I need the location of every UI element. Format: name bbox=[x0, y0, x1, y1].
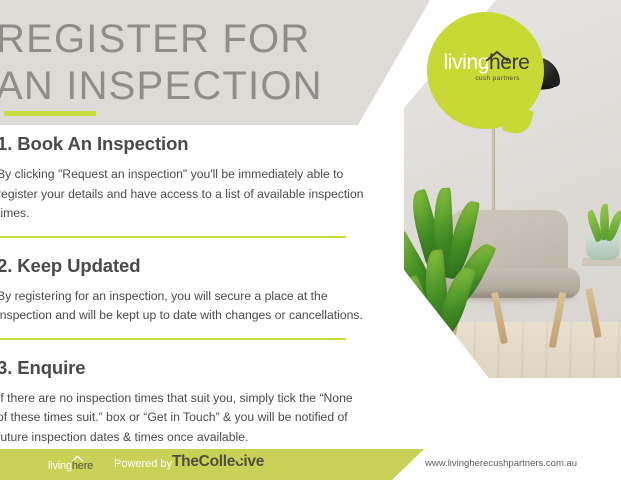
collective-the: The bbox=[172, 453, 199, 470]
step-1: 1. Book An Inspection By clicking "Reque… bbox=[0, 133, 366, 238]
page-title-line2: AN INSPECTION bbox=[0, 64, 323, 108]
page-title-line1: REGISTER FOR bbox=[0, 17, 310, 61]
footer-logo-living: living bbox=[48, 460, 72, 472]
brand-logo-content: livinghere cush partners bbox=[439, 52, 534, 92]
the-collective-logo[interactable]: TheCollecive bbox=[172, 452, 264, 472]
footer-brand-logo[interactable]: livinghere bbox=[48, 456, 93, 472]
floor-plant bbox=[404, 188, 496, 338]
title-underline bbox=[4, 111, 96, 116]
slide-root: REGISTER FORAN INSPECTION livinghere cus… bbox=[0, 0, 621, 480]
step-1-divider bbox=[0, 236, 346, 238]
steps-list: 1. Book An Inspection By clicking "Reque… bbox=[0, 133, 366, 461]
brand-logo-tagline: cush partners bbox=[439, 75, 534, 82]
step-3: 3. Enquire If there are no inspection ti… bbox=[0, 357, 366, 462]
spacer bbox=[0, 238, 366, 255]
house-roof-icon bbox=[71, 455, 84, 462]
collective-ive: ive bbox=[243, 453, 264, 470]
step-3-title: 3. Enquire bbox=[0, 357, 366, 379]
photo-floor bbox=[404, 322, 621, 440]
step-3-body: If there are no inspection times that su… bbox=[0, 389, 366, 448]
page-title: REGISTER FORAN INSPECTION bbox=[0, 16, 396, 110]
step-2-title: 2. Keep Updated bbox=[0, 255, 366, 277]
step-1-title: 1. Book An Inspection bbox=[0, 133, 366, 155]
step-2-divider bbox=[0, 338, 346, 340]
spacer bbox=[0, 340, 366, 357]
website-url: www.livingherecushpartners.com.au bbox=[425, 456, 577, 472]
brand-logo-living: living bbox=[444, 51, 489, 74]
step-2: 2. Keep Updated By registering for an in… bbox=[0, 255, 366, 340]
step-1-body: By clicking "Request an inspection" you'… bbox=[0, 165, 366, 224]
step-2-body: By registering for an inspection, you wi… bbox=[0, 287, 366, 326]
powered-by-label: Powered by bbox=[114, 456, 172, 472]
house-roof-icon bbox=[485, 50, 509, 62]
